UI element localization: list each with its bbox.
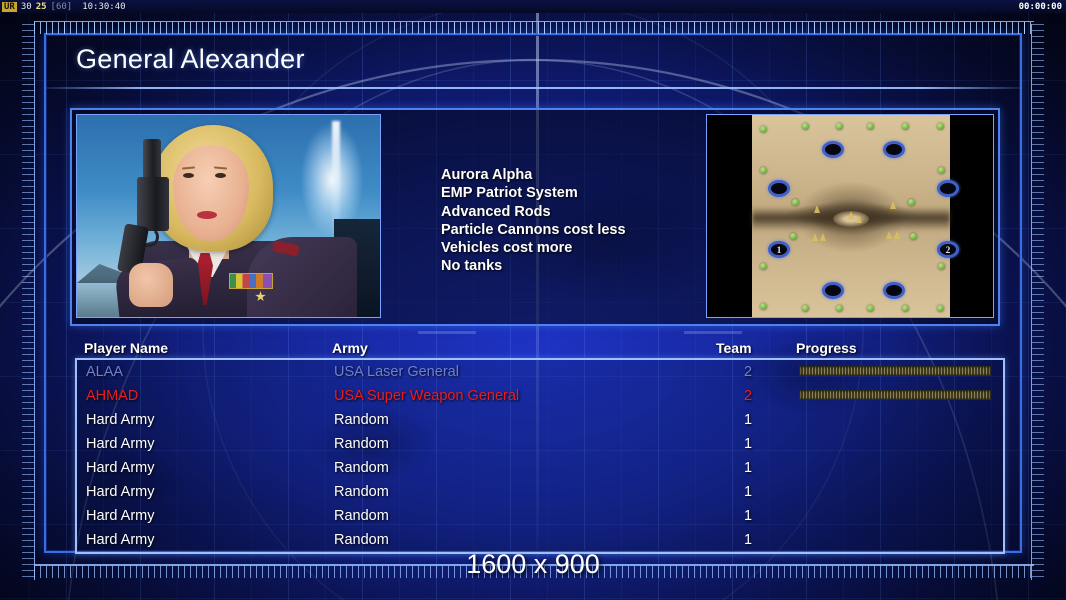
team-cell: 1 (744, 532, 752, 548)
team-cell: 1 (744, 460, 752, 476)
portrait-eye-right (215, 173, 226, 178)
divider-dash-left (418, 331, 476, 334)
player-name-cell: ALAA (86, 364, 123, 380)
column-header-player-name: Player Name (84, 340, 168, 356)
team-cell: 1 (744, 484, 752, 500)
team-cell: 2 (744, 364, 752, 380)
ability-item: EMP Patriot System (441, 184, 626, 202)
map-resource-icon (867, 305, 874, 312)
player-rows: ALAAUSA Laser General2AHMADUSA Super Wea… (77, 360, 1003, 552)
progress-bar (799, 390, 991, 400)
map-start-position[interactable] (883, 141, 905, 158)
game-lobby-screen: UR 30 25 [60] 10:30:40 00:00:00 General … (0, 0, 1066, 600)
player-name-cell: Hard Army (86, 484, 155, 500)
title-divider (46, 87, 1020, 89)
general-abilities-list: Aurora Alpha EMP Patriot System Advanced… (441, 166, 626, 276)
resolution-overlay: 1600 x 900 (0, 549, 1066, 580)
player-name-cell: Hard Army (86, 436, 155, 452)
progress-bar (799, 366, 991, 376)
army-cell: Random (334, 460, 389, 476)
map-start-position[interactable] (937, 180, 959, 197)
army-cell: Random (334, 436, 389, 452)
status-left-group: UR 30 25 [60] 10:30:40 (0, 2, 126, 12)
ruler-top-line (34, 21, 1034, 22)
map-resource-icon (760, 167, 767, 174)
table-row[interactable]: ALAAUSA Laser General2 (77, 360, 1003, 384)
map-start-position[interactable] (822, 282, 844, 299)
map-resource-icon (836, 305, 843, 312)
status-tag: UR (2, 2, 17, 12)
ability-item: Advanced Rods (441, 203, 626, 221)
team-cell: 1 (744, 508, 752, 524)
status-value-3: [60] (51, 2, 73, 12)
divider-dash-right (684, 331, 742, 334)
map-start-position[interactable] (768, 180, 790, 197)
map-resource-icon (938, 263, 945, 270)
table-row[interactable]: Hard ArmyRandom1 (77, 456, 1003, 480)
player-name-cell: Hard Army (86, 460, 155, 476)
pistol-slide-icon (137, 177, 169, 231)
player-name-cell: Hard Army (86, 532, 155, 548)
team-cell: 2 (744, 388, 752, 404)
team-cell: 1 (744, 412, 752, 428)
general-portrait (76, 114, 381, 318)
map-resource-icon (902, 305, 909, 312)
map-start-position[interactable] (822, 141, 844, 158)
table-row[interactable]: Hard ArmyRandom1 (77, 480, 1003, 504)
player-table-header: Player Name Army Team Progress (84, 340, 994, 358)
map-start-position[interactable]: 2 (937, 241, 959, 258)
map-start-position[interactable] (883, 282, 905, 299)
ability-item: Aurora Alpha (441, 166, 626, 184)
player-name-cell: Hard Army (86, 508, 155, 524)
column-header-army: Army (332, 340, 368, 356)
map-resource-icon (790, 233, 797, 240)
ruler-left-line (34, 24, 35, 580)
player-list: ALAAUSA Laser General2AHMADUSA Super Wea… (75, 358, 1005, 554)
status-clock: 10:30:40 (82, 2, 125, 12)
column-header-team: Team (716, 340, 752, 356)
map-start-position[interactable]: 1 (768, 241, 790, 258)
army-cell: Random (334, 484, 389, 500)
map-resource-icon (836, 123, 843, 130)
map-resource-icon (937, 123, 944, 130)
status-timer: 00:00:00 (1019, 2, 1066, 12)
table-row[interactable]: AHMADUSA Super Weapon General2 (77, 384, 1003, 408)
table-row[interactable]: Hard ArmyRandom1 (77, 432, 1003, 456)
ruler-right (1032, 24, 1044, 580)
table-row[interactable]: Hard ArmyRandom1 (77, 504, 1003, 528)
player-name-cell: AHMAD (86, 388, 138, 404)
army-cell: USA Laser General (334, 364, 459, 380)
ruler-right-line (1031, 24, 1032, 580)
ability-item: No tanks (441, 257, 626, 275)
map-resource-icon (802, 305, 809, 312)
portrait-medal-ribbons (229, 273, 273, 289)
map-resource-icon (760, 303, 767, 310)
map-resource-icon (910, 233, 917, 240)
portrait-hand (129, 263, 173, 307)
army-cell: Random (334, 508, 389, 524)
map-resource-icon (938, 167, 945, 174)
map-resource-icon (908, 199, 915, 206)
status-value-2: 25 (36, 2, 47, 12)
ruler-top (34, 22, 1034, 34)
status-value-1: 30 (21, 2, 32, 12)
portrait-eye-left (183, 173, 194, 178)
army-cell: USA Super Weapon General (334, 388, 519, 404)
map-resource-icon (760, 263, 767, 270)
map-resource-icon (937, 305, 944, 312)
player-name-cell: Hard Army (86, 412, 155, 428)
ruler-left (22, 24, 34, 580)
page-title: General Alexander (76, 44, 305, 75)
map-resource-icon (802, 123, 809, 130)
portrait-lips (197, 211, 217, 219)
top-status-bar: UR 30 25 [60] 10:30:40 00:00:00 (0, 0, 1066, 13)
map-resource-icon (760, 126, 767, 133)
ability-item: Particle Cannons cost less (441, 221, 626, 239)
map-preview[interactable]: 12 (706, 114, 994, 318)
map-resource-icon (792, 199, 799, 206)
map-resource-icon (902, 123, 909, 130)
army-cell: Random (334, 412, 389, 428)
team-cell: 1 (744, 436, 752, 452)
column-header-progress: Progress (796, 340, 857, 356)
army-cell: Random (334, 532, 389, 548)
table-row[interactable]: Hard ArmyRandom1 (77, 408, 1003, 432)
ability-item: Vehicles cost more (441, 239, 626, 257)
map-resource-icon (867, 123, 874, 130)
